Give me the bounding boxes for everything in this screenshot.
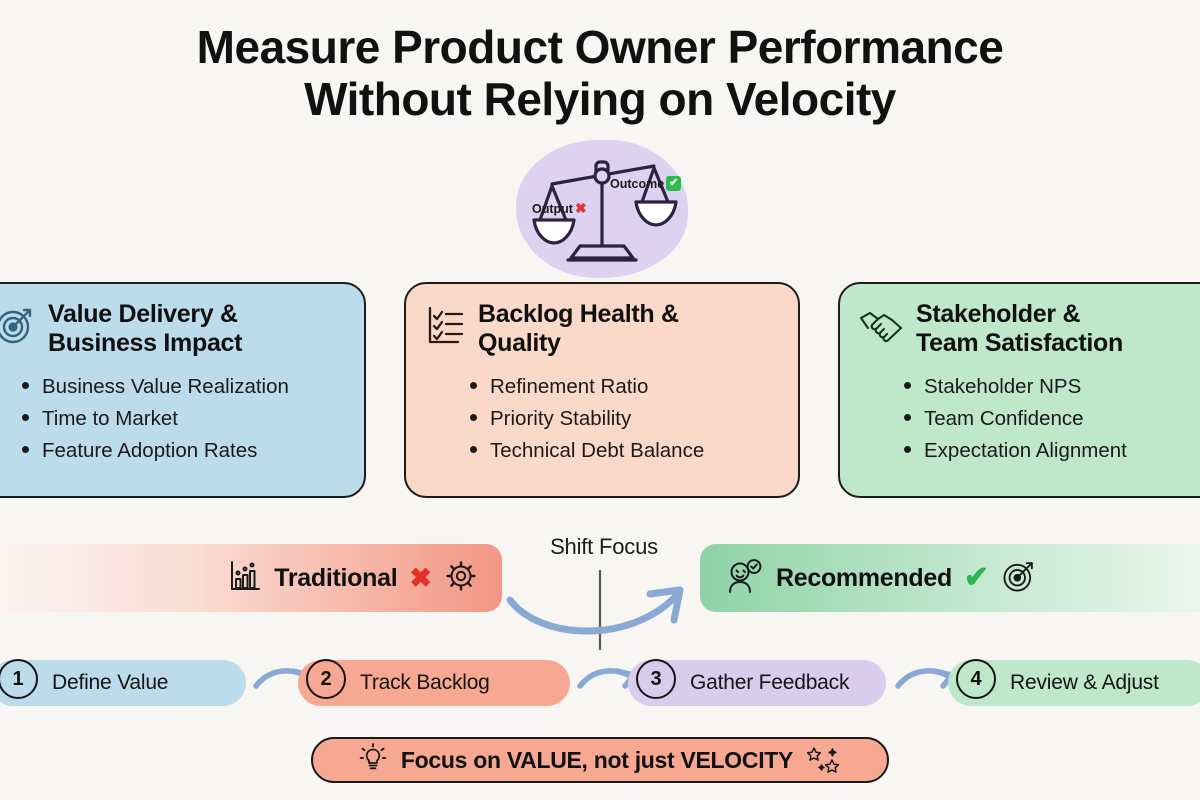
list-item: Refinement Ratio: [466, 371, 780, 403]
pillar-card-title-line-2: Business Impact: [48, 329, 242, 357]
cross-icon: ✖: [409, 565, 432, 592]
step-pill-4[interactable]: 4 Review & Adjust: [948, 660, 1200, 706]
pillar-card-title-line-2: Team Satisfaction: [916, 329, 1123, 357]
checklist-icon: [424, 304, 466, 351]
shift-focus-label: Shift Focus: [506, 534, 702, 560]
bar-chart-icon: [228, 559, 262, 598]
balance-right-label: Outcome ✔: [610, 176, 681, 191]
step-label: Review & Adjust: [1010, 671, 1159, 695]
infographic-canvas: Measure Product Owner Performance Withou…: [0, 0, 1200, 800]
pillar-card-title-line-2: Quality: [478, 329, 561, 357]
footer-callout-banner[interactable]: Focus on VALUE, not just VELOCITY: [311, 737, 889, 783]
cross-icon: ✖: [575, 200, 587, 217]
page-title: Measure Product Owner Performance Withou…: [0, 22, 1200, 126]
pillar-card-header: Backlog Health & Quality: [424, 300, 780, 357]
list-item: Technical Debt Balance: [466, 435, 780, 467]
list-item: Priority Stability: [466, 403, 780, 435]
recommended-approach-bar[interactable]: Recommended ✔: [700, 544, 1200, 612]
pillar-card-title: Stakeholder & Team Satisfaction: [916, 300, 1123, 357]
pillar-card-header: Stakeholder & Team Satisfaction: [858, 300, 1200, 357]
pillar-card-backlog-health[interactable]: Backlog Health & Quality Refinement Rati…: [404, 282, 800, 498]
pillar-card-list: Stakeholder NPS Team Confidence Expectat…: [858, 371, 1200, 466]
step-label: Define Value: [52, 671, 168, 695]
pillar-card-title-line-1: Value Delivery &: [48, 300, 238, 328]
balance-badge: Output ✖ Outcome ✔: [516, 140, 688, 278]
list-item: Business Value Realization: [18, 371, 346, 403]
traditional-approach-bar[interactable]: Traditional ✖: [0, 544, 502, 612]
target-icon: [1001, 558, 1037, 599]
pillar-card-list: Refinement Ratio Priority Stability Tech…: [424, 371, 780, 466]
pillar-card-value-delivery[interactable]: Value Delivery & Business Impact Busines…: [0, 282, 366, 498]
pillar-card-title: Backlog Health & Quality: [478, 300, 679, 357]
balance-left-text: Output: [532, 202, 573, 216]
page-title-line-2: Without Relying on Velocity: [0, 74, 1200, 126]
step-pill-2[interactable]: 2 Track Backlog: [298, 660, 570, 706]
list-item: Time to Market: [18, 403, 346, 435]
check-icon: ✔: [666, 176, 681, 191]
recommended-bar-content: Recommended ✔: [724, 558, 1037, 599]
pillar-card-title-line-1: Backlog Health &: [478, 300, 679, 328]
traditional-bar-content: Traditional ✖: [228, 559, 478, 598]
step-label: Track Backlog: [360, 671, 490, 695]
list-item: Team Confidence: [900, 403, 1200, 435]
pillar-card-title-line-1: Stakeholder &: [916, 300, 1080, 328]
list-item: Stakeholder NPS: [900, 371, 1200, 403]
recommended-label: Recommended: [776, 564, 952, 593]
shift-focus-arrow-icon: [500, 566, 700, 656]
target-icon: [0, 304, 36, 351]
footer-callout-text: Focus on VALUE, not just VELOCITY: [401, 747, 793, 774]
list-item: Expectation Alignment: [900, 435, 1200, 467]
handshake-icon: [858, 304, 904, 351]
sparkles-icon: [807, 746, 841, 774]
step-number-badge: 3: [636, 659, 676, 699]
pillar-card-title: Value Delivery & Business Impact: [48, 300, 242, 357]
list-item: Feature Adoption Rates: [18, 435, 346, 467]
step-number-badge: 2: [306, 659, 346, 699]
traditional-label: Traditional: [274, 564, 397, 593]
happy-face-check-icon: [724, 558, 764, 599]
balance-right-text: Outcome: [610, 177, 664, 191]
step-number-badge: 4: [956, 659, 996, 699]
step-number-badge: 1: [0, 659, 38, 699]
step-pill-1[interactable]: 1 Define Value: [0, 660, 246, 706]
lightbulb-icon: [359, 743, 387, 778]
page-title-line-1: Measure Product Owner Performance: [197, 21, 1004, 73]
check-icon: ✔: [964, 563, 989, 593]
step-label: Gather Feedback: [690, 671, 849, 695]
gear-icon: [444, 559, 478, 598]
pillar-card-list: Business Value Realization Time to Marke…: [0, 371, 346, 466]
balance-left-label: Output ✖: [532, 200, 587, 217]
pillar-card-stakeholder-satisfaction[interactable]: Stakeholder & Team Satisfaction Stakehol…: [838, 282, 1200, 498]
step-pill-3[interactable]: 3 Gather Feedback: [628, 660, 886, 706]
pillar-card-header: Value Delivery & Business Impact: [0, 300, 346, 357]
